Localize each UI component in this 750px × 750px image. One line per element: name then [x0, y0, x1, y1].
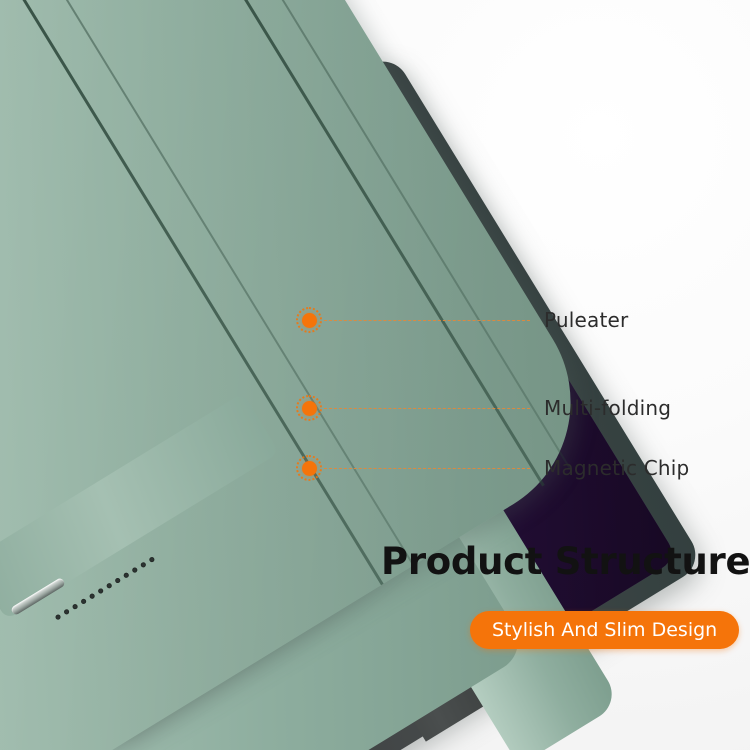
product-headline: Product Structure	[381, 540, 750, 583]
callout-puleater: Puleater	[296, 307, 628, 333]
callout-leader-line	[324, 408, 530, 409]
callout-leader-line	[324, 468, 530, 469]
callout-dot-ring	[296, 395, 322, 421]
callout-dot-ring	[296, 307, 322, 333]
callout-dot-ring	[296, 455, 322, 481]
callout-label-puleater: Puleater	[544, 308, 628, 332]
callout-dot-icon	[296, 395, 322, 421]
callout-label-magnetic-chip: Magnetic Chip	[544, 456, 689, 480]
callout-leader-line	[324, 320, 530, 321]
callout-dot-icon	[296, 455, 322, 481]
callout-label-multi-folding: Multi-folding	[544, 396, 671, 420]
product-image-canvas: Puleater Multi-folding Magnetic Chip Pro…	[0, 0, 750, 750]
callout-magnetic-chip: Magnetic Chip	[296, 455, 689, 481]
callout-multi-folding: Multi-folding	[296, 395, 671, 421]
tagline-badge: Stylish And Slim Design	[470, 611, 739, 649]
callout-dot-icon	[296, 307, 322, 333]
